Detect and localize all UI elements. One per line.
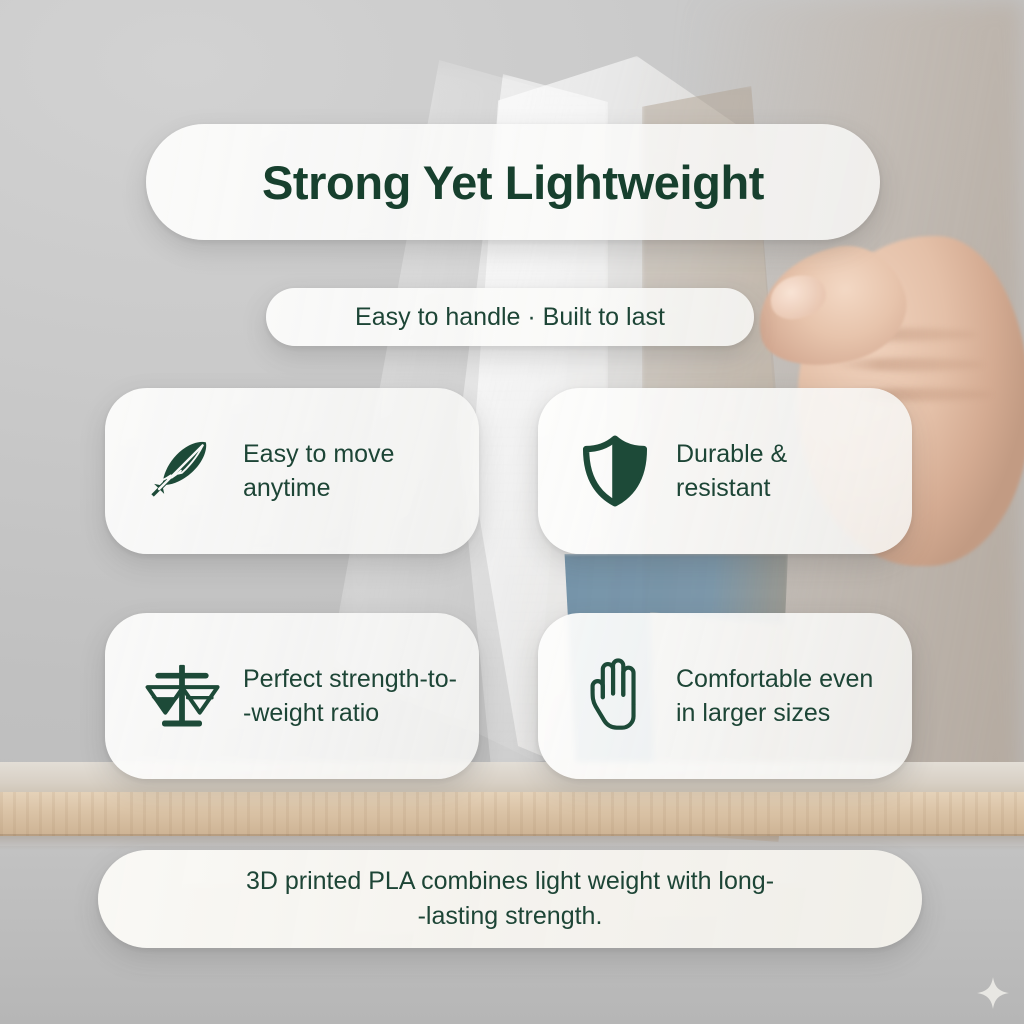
subtitle-pill: Easy to handle · Built to last — [266, 288, 754, 346]
page-title: Strong Yet Lightweight — [262, 155, 764, 210]
feature-line-1: Easy to move — [243, 440, 394, 468]
title-pill: Strong Yet Lightweight — [146, 124, 880, 240]
sparkle-icon — [976, 976, 1010, 1010]
feature-line-2: in larger sizes — [676, 696, 873, 731]
feature-card-durable-resistant[interactable]: Durable & resistant — [538, 388, 912, 554]
footer-pill: 3D printed PLA combines light weight wit… — [98, 850, 922, 948]
feature-card-label: Easy to move anytime — [243, 437, 394, 506]
feather-icon — [139, 428, 225, 514]
footer-line-2: -lasting strength. — [246, 899, 774, 935]
feature-card-strength-to-weight[interactable]: Perfect strength-to- -weight ratio — [105, 613, 479, 779]
feature-card-label: Comfortable even in larger sizes — [676, 662, 873, 731]
balance-scale-icon — [139, 653, 225, 739]
feature-card-label: Durable & resistant — [676, 437, 787, 506]
feature-line-2: resistant — [676, 471, 787, 506]
feature-card-comfortable-larger-sizes[interactable]: Comfortable even in larger sizes — [538, 613, 912, 779]
hand-crease-2 — [834, 358, 984, 371]
feature-card-label: Perfect strength-to- -weight ratio — [243, 662, 457, 731]
feature-line-1: Comfortable even — [676, 665, 873, 693]
feature-line-1: Durable & — [676, 440, 787, 468]
shelf-drop-shadow — [0, 834, 1024, 850]
feature-line-2: anytime — [243, 471, 394, 506]
open-hand-icon — [572, 653, 658, 739]
feature-line-2: -weight ratio — [243, 696, 457, 731]
infographic-stage: Strong Yet Lightweight Easy to handle · … — [0, 0, 1024, 1024]
footer-line-1: 3D printed PLA combines light weight wit… — [246, 867, 774, 895]
shield-icon — [572, 428, 658, 514]
page-subtitle: Easy to handle · Built to last — [355, 303, 665, 332]
shelf-wood-face — [0, 792, 1024, 836]
feature-line-1: Perfect strength-to- — [243, 665, 457, 693]
feature-card-easy-to-move[interactable]: Easy to move anytime — [105, 388, 479, 554]
footer-caption: 3D printed PLA combines light weight wit… — [246, 864, 774, 935]
